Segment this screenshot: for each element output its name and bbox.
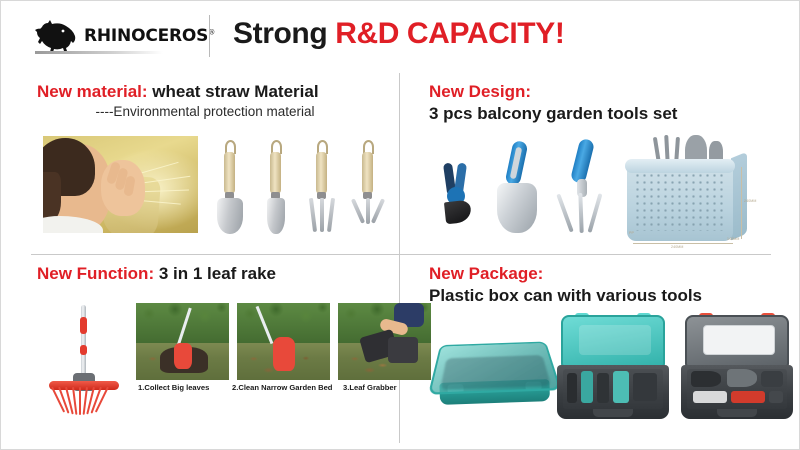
hair-back xyxy=(43,172,61,222)
tool-cultivator xyxy=(351,136,385,236)
new-design-label: New Design: xyxy=(429,82,531,101)
quadrant-new-function: New Function: 3 in 1 leaf rake xyxy=(37,263,393,438)
new-function-text: 3 in 1 leaf rake xyxy=(154,264,276,283)
woman-smelling-wheat-straw-photo xyxy=(43,136,198,233)
new-design-subheading: 3 pcs balcony garden tools set xyxy=(429,103,789,125)
horizontal-divider xyxy=(31,254,771,255)
open-teal-tool-case-photo xyxy=(557,315,669,419)
balcony-garden-tools-set-photo: 240MM 240MM 145MM PP xyxy=(431,129,789,253)
quadrant-new-material: New material: wheat straw Material ----E… xyxy=(37,81,393,251)
tool-trowel xyxy=(213,136,247,236)
caption-1: 1.Collect Big leaves xyxy=(138,383,209,392)
closed-teal-tool-case-photo xyxy=(434,335,554,409)
new-function-heading: New Function: 3 in 1 leaf rake xyxy=(37,263,393,284)
straw-handle-garden-tools-photo xyxy=(209,131,393,236)
new-package-label: New Package: xyxy=(429,264,543,283)
basket-material-label: PP xyxy=(629,231,634,235)
pruner xyxy=(439,163,473,227)
caption-2: 2.Clean Narrow Garden Bed xyxy=(232,383,332,392)
slide-header: RHINOCEROS® Strong R&D CAPACITY! xyxy=(1,1,800,71)
use-photo-leaf-grabber xyxy=(338,303,431,380)
new-material-label: New material: xyxy=(37,82,148,101)
use-photo-collect-big-leaves xyxy=(136,303,229,380)
page-title: Strong R&D CAPACITY! xyxy=(233,17,564,51)
new-material-subheading: ----Environmental protection material xyxy=(37,104,393,119)
storage-basket: 240MM 240MM 145MM PP xyxy=(627,135,747,243)
caption-3: 3.Leaf Grabber xyxy=(343,383,397,392)
rhinoceros-icon xyxy=(33,19,79,53)
header-divider xyxy=(209,15,210,57)
marketing-slide: RHINOCEROS® Strong R&D CAPACITY! New mat… xyxy=(0,0,800,450)
title-part-black: Strong xyxy=(233,17,335,50)
new-material-text: wheat straw Material xyxy=(148,82,319,101)
new-material-heading: New material: wheat straw Material xyxy=(37,81,393,102)
red-fan-leaf-rake-photo xyxy=(37,301,127,419)
tool-transplanter xyxy=(259,136,293,236)
new-function-label: New Function: xyxy=(37,264,154,283)
new-package-heading: New Package: xyxy=(429,263,789,285)
blue-grip-trowel xyxy=(493,141,545,239)
basket-height-dimension: 240MM xyxy=(744,199,756,203)
open-grey-tool-case-photo xyxy=(681,315,793,419)
logo-underline xyxy=(35,51,163,54)
quadrant-new-design: New Design: 3 pcs balcony garden tools s… xyxy=(429,81,789,251)
new-design-heading: New Design: xyxy=(429,81,789,103)
title-part-red: R&D CAPACITY! xyxy=(335,17,564,50)
tool-case-photos xyxy=(429,311,789,426)
basket-width-dimension: 240MM xyxy=(671,245,683,249)
use-photo-captions: 1.Collect Big leaves 2.Clean Narrow Gard… xyxy=(136,383,426,399)
quadrant-new-package: New Package: Plastic box can with variou… xyxy=(429,263,789,438)
tool-fork xyxy=(305,136,339,236)
brand-name: RHINOCEROS® xyxy=(84,26,215,46)
blue-grip-cultivator xyxy=(555,139,609,239)
basket-depth-dimension: 145MM xyxy=(727,237,739,241)
use-photo-clean-narrow-garden-bed xyxy=(237,303,330,380)
brand-logo: RHINOCEROS® xyxy=(33,19,193,53)
new-package-subheading: Plastic box can with various tools xyxy=(429,285,789,307)
